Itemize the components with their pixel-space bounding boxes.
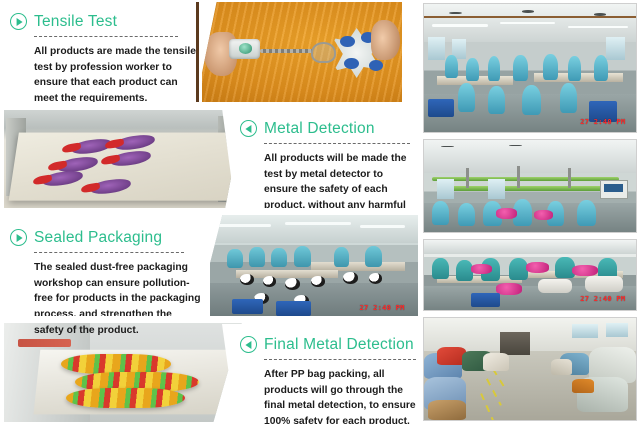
step-panel-tensile-test: Tensile Test All products are made the t…: [0, 0, 202, 104]
circle-play-right-icon: [10, 13, 27, 30]
ceiling-light: [568, 26, 627, 28]
window: [572, 324, 597, 338]
ceiling: [424, 140, 636, 173]
machine-logo: [18, 339, 70, 347]
worker: [594, 55, 609, 81]
step-title: Metal Detection: [264, 121, 375, 137]
worker: [509, 258, 528, 280]
worker: [334, 247, 350, 267]
photo-panda-packing: 27 2:40 PM: [196, 214, 418, 318]
worker: [432, 258, 449, 279]
divider: [0, 208, 420, 215]
worker: [488, 86, 505, 114]
ceiling-fan: [594, 13, 607, 16]
pink-material: [534, 210, 553, 220]
force-gauge: [229, 39, 260, 59]
step-panel-metal-detection: Metal Detection All products will be mad…: [222, 108, 418, 212]
dashed-divider: [34, 36, 178, 37]
window: [606, 37, 625, 60]
panda-plush: [285, 278, 301, 289]
tensile-test-scene: [196, 2, 402, 102]
white-tub: [538, 279, 572, 293]
photo-edge: [196, 2, 199, 102]
toy-dot: [369, 60, 383, 71]
photo-timestamp: 27 2:40 PM: [580, 295, 625, 303]
ceiling-light: [214, 224, 272, 227]
dashed-divider: [34, 252, 184, 253]
photo-timestamp: 27 2:40 PM: [580, 118, 625, 126]
panel-header: Metal Detection: [240, 120, 408, 137]
panda-packing-scene: 27 2:40 PM: [196, 214, 418, 318]
panel-header: Final Metal Detection: [240, 336, 410, 353]
pink-material: [572, 265, 597, 276]
step-description: All products are made the tensile test b…: [34, 44, 196, 107]
hand-right: [371, 20, 400, 60]
bin: [276, 301, 312, 316]
panel-header: Tensile Test: [10, 13, 188, 30]
step-title: Tensile Test: [34, 14, 117, 30]
worker: [466, 58, 479, 81]
worker: [543, 54, 558, 80]
worker: [488, 56, 501, 80]
panda-plush: [369, 273, 382, 283]
ceiling-light: [432, 24, 487, 26]
worker: [294, 246, 312, 267]
conveyor-post: [568, 168, 571, 188]
photo-pink-goods-line: 27 2:40 PM: [424, 240, 636, 310]
worker: [445, 55, 458, 78]
caterpillar-toy: [61, 354, 170, 374]
worker: [522, 85, 541, 116]
conveyor-post: [466, 168, 469, 188]
caterpillar-toy: [66, 388, 185, 408]
ceiling: [196, 214, 418, 243]
bin: [471, 293, 501, 307]
bin: [232, 299, 263, 314]
infographic-page: Tensile Test All products are made the t…: [0, 0, 640, 424]
ceiling-fan: [522, 10, 535, 13]
window: [488, 179, 505, 199]
conveyor-post: [517, 166, 520, 188]
worker: [227, 249, 243, 268]
control-panel: [600, 180, 627, 199]
worker: [513, 55, 528, 81]
dashed-divider: [264, 359, 416, 360]
worker: [271, 248, 287, 267]
step-description: The sealed dust-free packaging workshop …: [34, 260, 202, 338]
worker: [432, 201, 449, 225]
worker: [560, 83, 577, 112]
pink-material: [471, 264, 492, 274]
panel-header: Sealed Packaging: [10, 229, 198, 246]
panda-plush: [240, 274, 253, 284]
ceiling-light: [360, 225, 404, 228]
column-divider: [418, 0, 422, 424]
worker: [365, 246, 383, 267]
goods-bundle: [572, 379, 593, 393]
ceiling-light: [285, 222, 352, 225]
ceiling-light: [500, 22, 555, 24]
circle-play-right-icon: [10, 229, 27, 246]
pink-material: [496, 283, 521, 294]
window: [437, 179, 454, 199]
step-panel-final-metal-detection: Final Metal Detection After PP bag packi…: [222, 324, 418, 424]
ceiling: [424, 240, 636, 254]
circle-play-left-icon: [240, 120, 257, 137]
metal-detector-scene: [4, 110, 244, 210]
circle-play-left-icon: [240, 336, 257, 353]
step-description: After PP bag packing, all products will …: [264, 367, 424, 430]
goods-bundle: [483, 353, 508, 371]
overhead-conveyor: [432, 177, 619, 182]
step-title: Sealed Packaging: [34, 230, 162, 246]
worker: [249, 247, 265, 267]
photo-warehouse-aisle: [424, 318, 636, 420]
photo-timestamp: 27 2:40 PM: [360, 304, 405, 312]
bin: [428, 99, 453, 117]
toy-dot: [344, 58, 358, 69]
panda-plush: [343, 272, 359, 283]
panda-plush: [263, 276, 276, 286]
photo-metal-detector-belt: [4, 110, 244, 210]
photo-tensile-test: [196, 2, 402, 102]
worker: [458, 83, 475, 111]
dashed-divider: [264, 143, 410, 144]
worker: [568, 56, 581, 80]
step-panel-sealed-packaging: Sealed Packaging The sealed dust-free pa…: [0, 216, 210, 320]
sewing-hall-scene: 27 2:40 PM: [424, 4, 636, 132]
window: [606, 323, 627, 337]
window: [428, 37, 445, 60]
white-tub: [585, 276, 623, 291]
warehouse-aisle-scene: [424, 318, 636, 420]
green-conveyor-scene: [424, 140, 636, 232]
toy-dot: [340, 36, 354, 47]
overhead-conveyor: [445, 186, 606, 191]
step-title: Final Metal Detection: [264, 337, 414, 353]
divider: [0, 316, 420, 323]
worker: [458, 203, 475, 227]
pink-goods-scene: 27 2:40 PM: [424, 240, 636, 310]
photo-sewing-hall: 27 2:40 PM: [424, 4, 636, 132]
worker: [577, 200, 596, 227]
ceiling-beam: [424, 16, 636, 18]
photo-green-conveyor-hall: [424, 140, 636, 232]
doorway: [500, 332, 530, 354]
pink-material: [526, 262, 549, 273]
goods-bundle: [428, 400, 466, 420]
pink-material: [496, 208, 517, 219]
goods-bundle: [551, 359, 572, 375]
hook: [311, 42, 336, 63]
chain: [260, 49, 314, 53]
divider: [0, 102, 420, 108]
panda-plush: [311, 276, 324, 286]
